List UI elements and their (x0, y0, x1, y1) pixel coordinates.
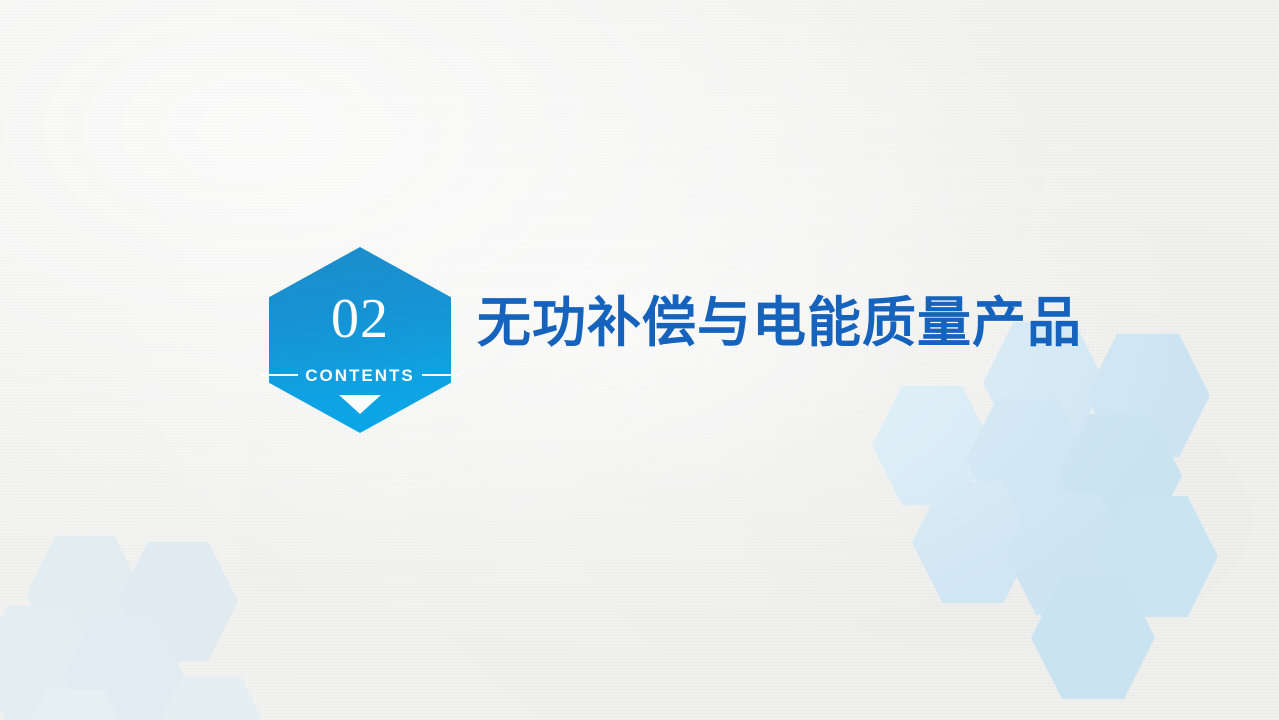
decorative-hexagon (1096, 492, 1218, 621)
contents-divider-row: CONTENTS (261, 364, 459, 386)
decorative-hexagon (18, 686, 134, 720)
decorative-hexagon (1005, 488, 1129, 619)
hexagon-cluster-bottom-left (0, 0, 1279, 720)
vignette-overlay (0, 0, 1279, 720)
divider-line-right (422, 374, 459, 376)
decorative-hexagon (1086, 330, 1210, 461)
presentation-slide: 02 CONTENTS 无功补偿与电能质量产品 (0, 0, 1279, 720)
decorative-hexagon (966, 395, 1088, 524)
triangle-down-icon (339, 395, 381, 414)
section-number: 02 (269, 291, 451, 347)
decorative-hexagon (1031, 572, 1155, 703)
decorative-hexagon (1058, 410, 1182, 541)
decorative-hexagon (912, 478, 1034, 607)
decorative-hexagon (872, 382, 992, 509)
decorative-hexagon (0, 602, 96, 720)
divider-line-left (261, 374, 298, 376)
contents-label: CONTENTS (298, 366, 422, 385)
paper-texture-overlay (0, 0, 1279, 720)
decorative-hexagon (64, 612, 184, 720)
section-badge: 02 CONTENTS (269, 247, 451, 433)
hexagon-cluster-bottom-right (0, 0, 1279, 720)
decorative-hexagon (118, 538, 238, 665)
page-title: 无功补偿与电能质量产品 (477, 292, 1082, 354)
decorative-hexagon (152, 672, 270, 720)
decorative-hexagon (26, 532, 144, 657)
